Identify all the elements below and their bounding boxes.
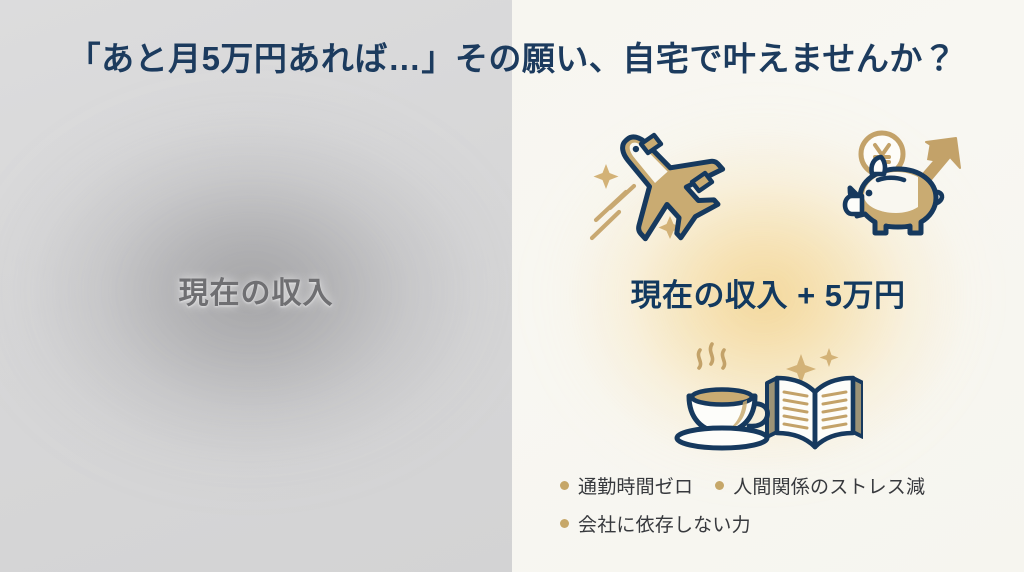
airplane-icon bbox=[584, 120, 734, 251]
after-panel-top-icons bbox=[512, 118, 1024, 246]
list-item: 人間関係のストレス減 bbox=[715, 472, 925, 499]
bullet-dot-icon bbox=[560, 481, 569, 490]
before-panel-label: 現在の収入 bbox=[0, 268, 512, 312]
bullet-label: 会社に依存しない力 bbox=[578, 510, 751, 537]
bullet-dot-icon bbox=[560, 519, 569, 528]
after-panel-headline: 現在の収入 + 5万円 bbox=[512, 270, 1024, 315]
bullet-row: 通勤時間ゼロ 人間関係のストレス減 bbox=[560, 466, 1024, 504]
coffee-and-book-icon-group bbox=[673, 334, 863, 461]
list-item: 会社に依存しない力 bbox=[560, 510, 751, 537]
page-title: 「あと月5万円あれば…」その願い、自宅で叶えませんか？ bbox=[0, 36, 1024, 82]
bullet-label: 人間関係のストレス減 bbox=[733, 472, 925, 499]
slide-canvas: 現在の収入 bbox=[0, 0, 1024, 572]
bullet-label: 通勤時間ゼロ bbox=[578, 472, 693, 499]
benefit-bullet-list: 通勤時間ゼロ 人間関係のストレス減 会社に依存しない力 bbox=[560, 466, 1024, 542]
bullet-row: 会社に依存しない力 bbox=[560, 504, 1024, 542]
piggy-bank-icon bbox=[830, 126, 970, 251]
bullet-dot-icon bbox=[715, 481, 724, 490]
list-item: 通勤時間ゼロ bbox=[560, 472, 693, 499]
